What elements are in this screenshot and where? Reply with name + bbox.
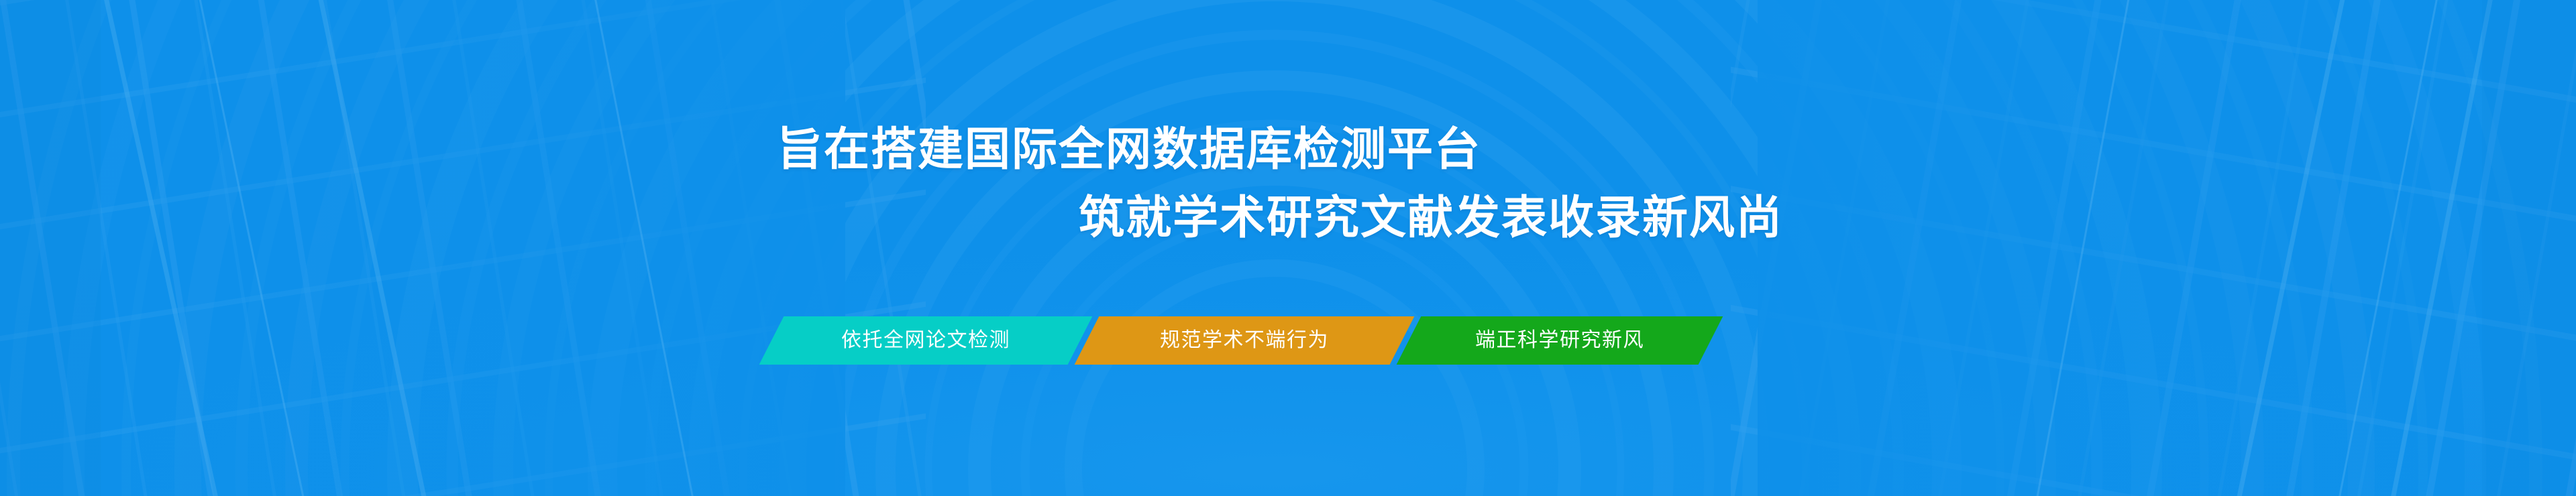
feature-tag-1-label: 依托全网论文检测 [841, 330, 1010, 351]
feature-tag-3-label: 端正科学研究新风 [1475, 330, 1644, 351]
right-grid-pattern [1731, 0, 2576, 496]
feature-tag-3[interactable]: 端正科学研究新风 [1397, 316, 1723, 365]
promo-banner: 旨在搭建国际全网数据库检测平台 筑就学术研究文献发表收录新风尚 依托全网论文检测… [0, 0, 2576, 496]
background-decoration [0, 0, 2576, 496]
feature-tag-2-label: 规范学术不端行为 [1160, 330, 1329, 351]
feature-tag-row: 依托全网论文检测 规范学术不端行为 端正科学研究新风 [771, 316, 1711, 365]
feature-tag-2[interactable]: 规范学术不端行为 [1075, 316, 1415, 365]
feature-tag-1[interactable]: 依托全网论文检测 [759, 316, 1093, 365]
left-grid-pattern [0, 0, 926, 496]
